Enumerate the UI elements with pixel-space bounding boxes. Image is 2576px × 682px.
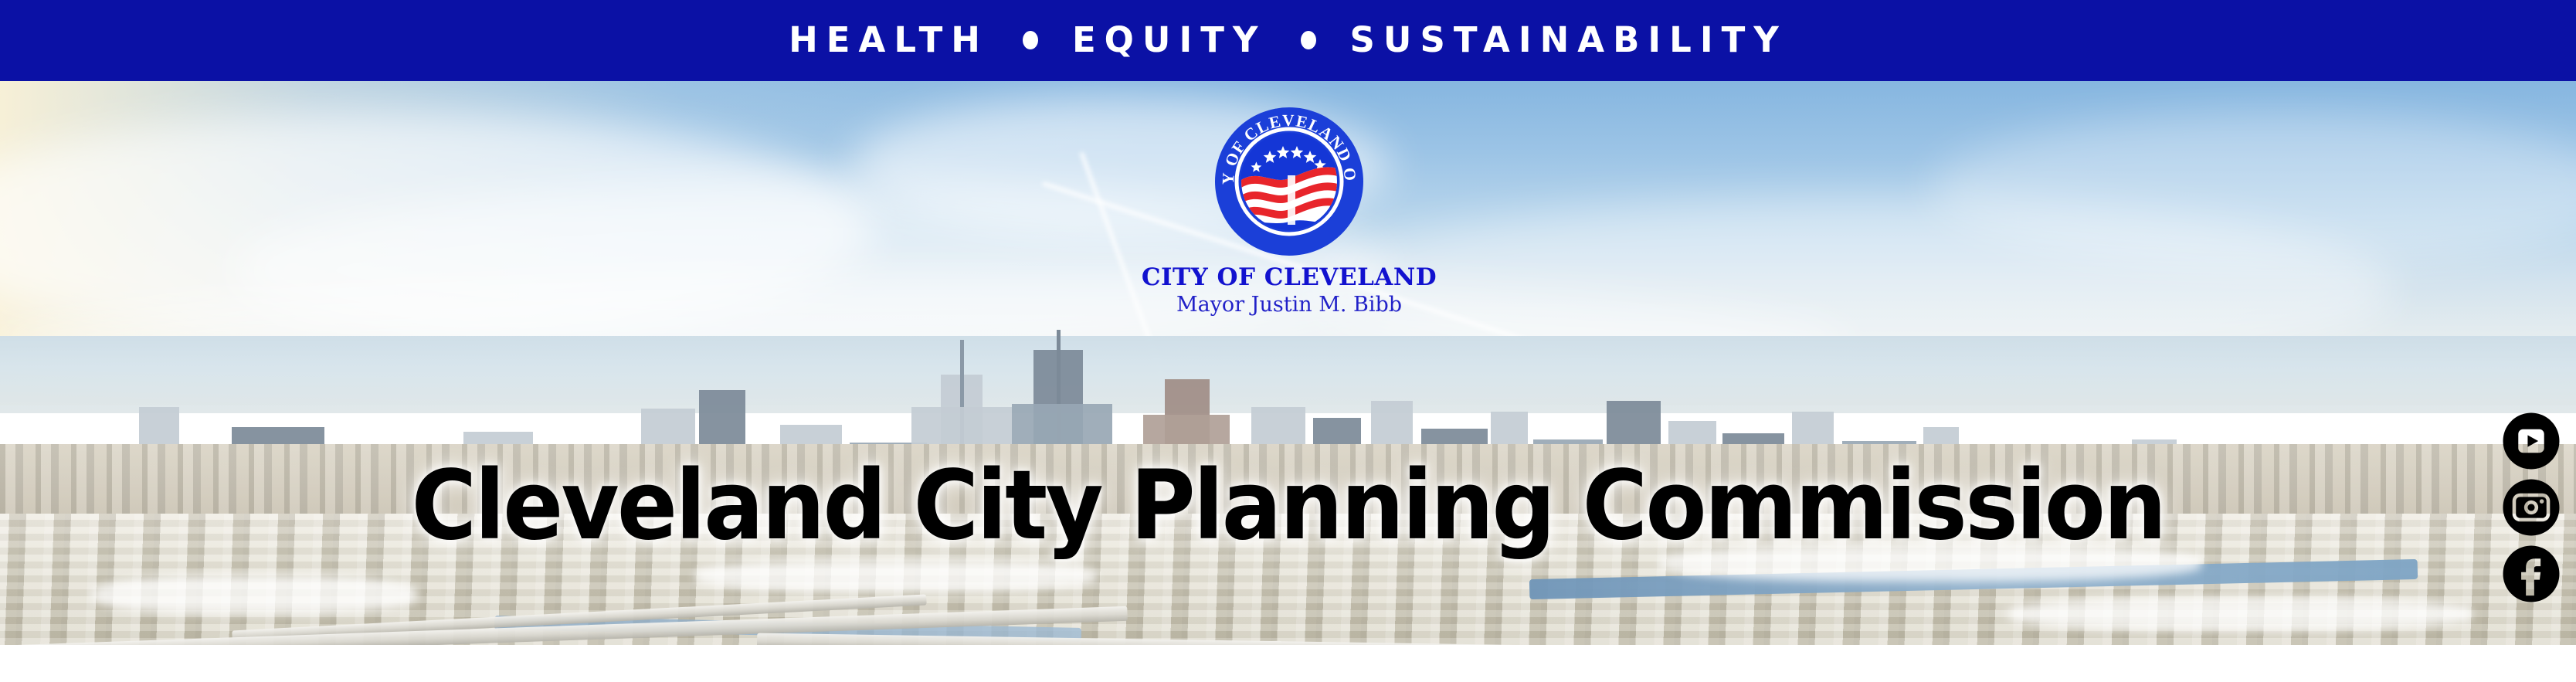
snow-patch bbox=[695, 560, 1097, 592]
social-links bbox=[2502, 412, 2561, 603]
brand-subtitle-mayor: Mayor Justin M. Bibb bbox=[1119, 293, 1459, 317]
tagline-word-health: HEALTH bbox=[789, 22, 989, 57]
instagram-icon[interactable] bbox=[2502, 478, 2561, 537]
tagline-word-equity: EQUITY bbox=[1072, 22, 1267, 57]
youtube-icon[interactable] bbox=[2502, 412, 2561, 470]
page-root: HEALTH EQUITY SUSTAINABILITY bbox=[0, 0, 2576, 682]
hero-photo: CITY OF CLEVELAND OHIO bbox=[0, 81, 2576, 645]
tagline-banner: HEALTH EQUITY SUSTAINABILITY bbox=[0, 0, 2576, 81]
tagline-bullet-icon-2 bbox=[1301, 31, 1316, 49]
tagline-banner-inner: HEALTH EQUITY SUSTAINABILITY bbox=[789, 22, 1787, 57]
tagline-bullet-icon-1 bbox=[1023, 31, 1038, 49]
tagline-word-sustainability: SUSTAINABILITY bbox=[1350, 22, 1787, 57]
brand-title: CITY OF CLEVELAND bbox=[1119, 265, 1459, 290]
page-title: Cleveland City Planning Commission bbox=[90, 458, 2486, 554]
snow-patch bbox=[2008, 597, 2472, 631]
snow-patch bbox=[93, 575, 417, 614]
facebook-icon[interactable] bbox=[2502, 545, 2561, 603]
city-brand-lockup: CITY OF CLEVELAND OHIO bbox=[1119, 104, 1459, 316]
city-of-cleveland-seal-icon: CITY OF CLEVELAND OHIO bbox=[1212, 104, 1366, 259]
